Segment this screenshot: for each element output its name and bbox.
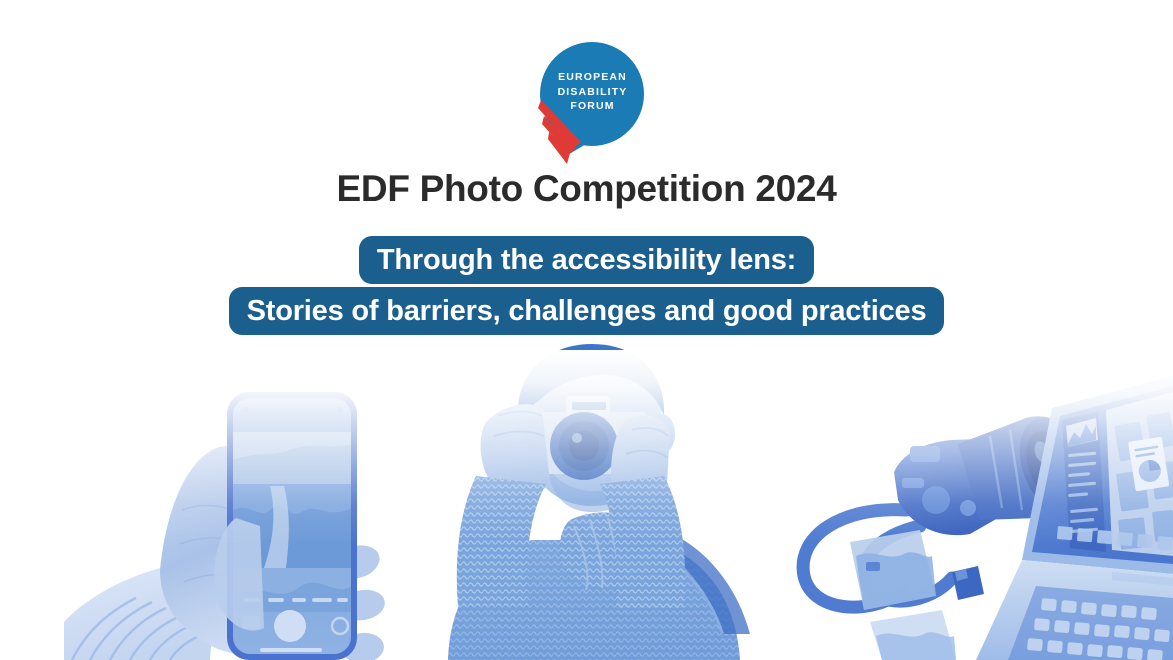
sd-memory-card [952, 566, 984, 600]
camera-hotshoe [910, 446, 940, 462]
shutter-button [274, 610, 306, 642]
front-camera-dot [243, 407, 249, 413]
poster-canvas: European Disability Forum EDF Photo Comp… [0, 0, 1173, 660]
logo-container: European Disability Forum [0, 38, 1173, 164]
sensor-dot [337, 407, 343, 413]
camera-brand-plate [572, 402, 606, 410]
subtitle-banner-row-1: Through the accessibility lens: [0, 236, 1173, 291]
camera-button [960, 500, 976, 516]
lens-highlight [572, 433, 582, 443]
edf-logo: European Disability Forum [524, 38, 650, 164]
subtitle-line-2: Stories of barriers, challenges and good… [229, 287, 945, 335]
photo-photographer-with-slr-camera [420, 350, 765, 660]
photo-strip [0, 350, 1173, 660]
edf-logo-icon [524, 38, 650, 164]
home-indicator [260, 648, 322, 652]
editing-app-canvas [1106, 392, 1173, 556]
photo-dslr-camera-sd-card-and-laptop [790, 360, 1173, 660]
subtitle-banner: Through the accessibility lens: Stories … [0, 236, 1173, 342]
subtitle-banner-row-2: Stories of barriers, challenges and good… [0, 287, 1173, 342]
photo-hand-holding-smartphone-camera [64, 360, 409, 660]
camera-mode-dial [902, 478, 924, 488]
subtitle-line-1: Through the accessibility lens: [359, 236, 814, 284]
photographer-illustration [420, 350, 765, 660]
dslr-laptop-illustration [790, 360, 1173, 660]
camera-grip-dial [922, 486, 950, 514]
page-title: EDF Photo Competition 2024 [0, 168, 1173, 210]
hand-phone-illustration [64, 360, 409, 660]
